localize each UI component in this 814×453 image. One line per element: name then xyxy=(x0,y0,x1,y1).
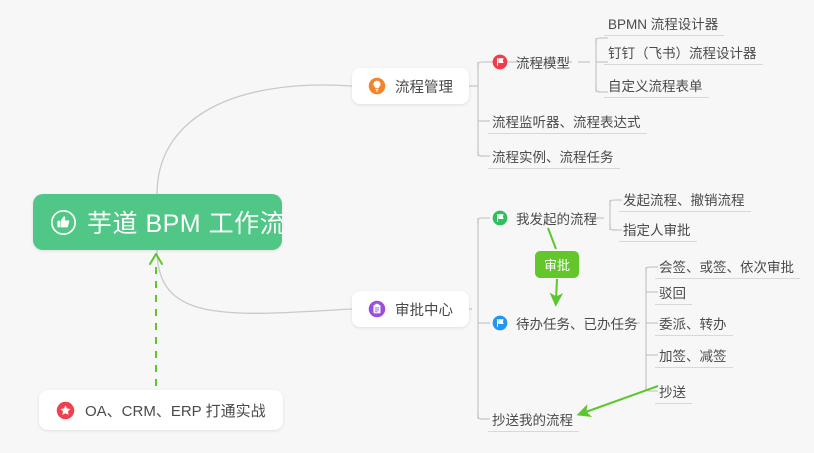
link-root-to-process-management xyxy=(157,85,352,194)
node-label-todo-done-task: 待办任务、已办任务 xyxy=(516,313,638,333)
leaf-cc-my-process[interactable]: 抄送我的流程 xyxy=(488,406,579,432)
leaf-cc[interactable]: 抄送 xyxy=(655,378,692,404)
leaf-listener-expression[interactable]: 流程监听器、流程表达式 xyxy=(488,108,647,134)
callout-label: OA、CRM、ERP 打通实战 xyxy=(85,400,266,421)
leaf-bpmn-designer[interactable]: BPMN 流程设计器 xyxy=(604,10,724,36)
leaf-label-cc-my-process: 抄送我的流程 xyxy=(492,409,573,429)
flag-icon xyxy=(492,54,508,70)
leaf-add-remove-sign[interactable]: 加签、减签 xyxy=(655,342,733,368)
node-my-started-process[interactable]: 我发起的流程 xyxy=(492,205,597,231)
approval-badge-label: 审批 xyxy=(544,255,570,274)
leaf-label-reject: 驳回 xyxy=(659,282,686,302)
node-process-model[interactable]: 流程模型 xyxy=(492,49,570,75)
clipboard-icon xyxy=(368,300,386,318)
leaf-label-assignee-approval: 指定人审批 xyxy=(623,219,691,239)
leaf-countersign[interactable]: 会签、或签、依次审批 xyxy=(655,253,800,279)
leaf-start-cancel[interactable]: 发起流程、撤销流程 xyxy=(619,186,751,212)
leaf-label-dingtalk-designer: 钉钉（飞书）流程设计器 xyxy=(608,42,757,62)
node-todo-done-task[interactable]: 待办任务、已办任务 xyxy=(492,310,638,336)
leaf-label-add-remove-sign: 加签、减签 xyxy=(659,345,727,365)
leaf-custom-form[interactable]: 自定义流程表单 xyxy=(604,72,709,98)
node-label-my-started-process: 我发起的流程 xyxy=(516,208,597,228)
branch-label-approval-center: 审批中心 xyxy=(395,299,453,320)
callout-node-integration[interactable]: OA、CRM、ERP 打通实战 xyxy=(39,390,283,430)
branch-node-process-management[interactable]: 流程管理 xyxy=(352,68,469,104)
root-node[interactable]: 芋道 BPM 工作流 xyxy=(33,194,282,250)
leaf-instance-task[interactable]: 流程实例、流程任务 xyxy=(488,143,620,169)
leaf-reject[interactable]: 驳回 xyxy=(655,279,692,305)
leaf-assignee-approval[interactable]: 指定人审批 xyxy=(619,216,697,242)
leaf-dingtalk-designer[interactable]: 钉钉（飞书）流程设计器 xyxy=(604,39,763,65)
link-ac-elbow-started xyxy=(478,218,490,224)
leaf-label-countersign: 会签、或签、依次审批 xyxy=(659,256,794,276)
leaf-label-cc: 抄送 xyxy=(659,381,686,401)
branch-node-approval-center[interactable]: 审批中心 xyxy=(352,291,469,327)
lightbulb-icon xyxy=(368,77,386,95)
leaf-delegate-transfer[interactable]: 委派、转办 xyxy=(655,310,733,336)
mindmap-canvas: 芋道 BPM 工作流 流程管理 流程模型 BPMN 流程设计器 钉钉（飞书 xyxy=(0,0,814,453)
thumbs-up-icon xyxy=(51,210,76,235)
leaf-label-custom-form: 自定义流程表单 xyxy=(608,75,703,95)
branch-label-process-management: 流程管理 xyxy=(395,76,453,97)
arrow-callout-head xyxy=(150,254,162,264)
link-root-to-approval-center xyxy=(157,250,352,313)
root-label: 芋道 BPM 工作流 xyxy=(87,204,285,240)
arrow-approval-flow-lower xyxy=(556,279,557,300)
leaf-label-bpmn-designer: BPMN 流程设计器 xyxy=(608,13,718,33)
leaf-label-listener-expression: 流程监听器、流程表达式 xyxy=(492,111,641,131)
star-icon xyxy=(56,401,75,420)
leaf-label-start-cancel: 发起流程、撤销流程 xyxy=(623,189,745,209)
node-label-process-model: 流程模型 xyxy=(516,52,570,72)
approval-badge: 审批 xyxy=(535,251,579,278)
flag-icon xyxy=(492,210,508,226)
arrow-cc-annotation xyxy=(583,386,658,413)
flag-icon xyxy=(492,315,508,331)
leaf-label-instance-task: 流程实例、流程任务 xyxy=(492,146,614,166)
arrow-approval-flow xyxy=(548,228,556,249)
leaf-label-delegate-transfer: 委派、转办 xyxy=(659,313,727,333)
